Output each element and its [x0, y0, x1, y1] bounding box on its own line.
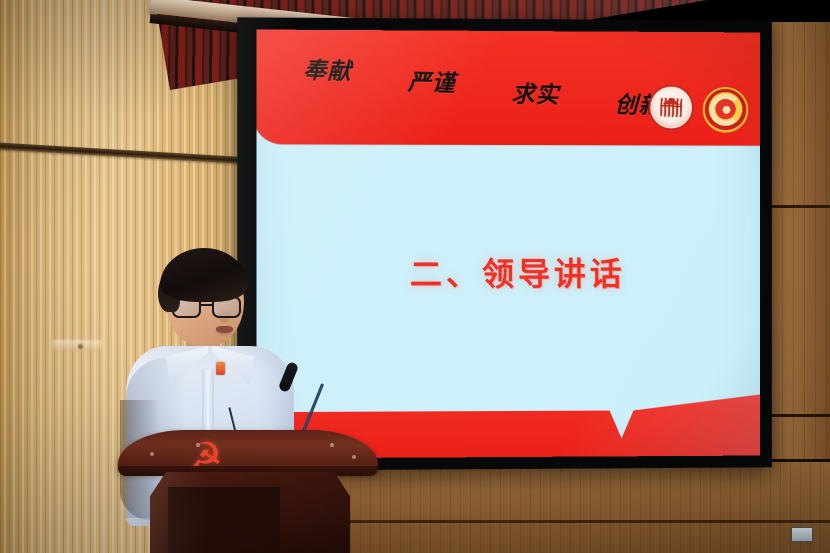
- motto-word-1: 奉献: [303, 51, 352, 87]
- podium-screw: [150, 452, 154, 456]
- presentation-scene: 奉献 严谨 求实 创新 二、领导讲话: [0, 0, 830, 553]
- slide-logos: [648, 84, 750, 134]
- lapel-pin-icon: [216, 362, 225, 375]
- motto-word-3: 求实: [511, 75, 560, 110]
- speaker-mouth: [216, 326, 233, 333]
- podium-screw: [196, 443, 200, 447]
- wall-fixture-plate: [52, 340, 102, 352]
- lower-wood-panel-wall: [300, 462, 830, 553]
- speaker-hair: [160, 248, 248, 302]
- wall-outlet-plate: [791, 527, 813, 542]
- lower-wall-seam: [300, 520, 830, 523]
- slide-title: 二、领导讲话: [265, 249, 761, 295]
- glasses-bridge: [201, 304, 212, 306]
- university-seal-logo-icon: [648, 84, 695, 132]
- podium-screw: [330, 443, 334, 447]
- circular-c-logo-icon: [702, 86, 749, 134]
- podium-front-shadow: [168, 487, 280, 553]
- presentation-screen[interactable]: 奉献 严谨 求实 创新 二、领导讲话: [256, 30, 760, 459]
- motto-word-2: 严谨: [407, 63, 456, 98]
- podium-screw: [352, 455, 356, 459]
